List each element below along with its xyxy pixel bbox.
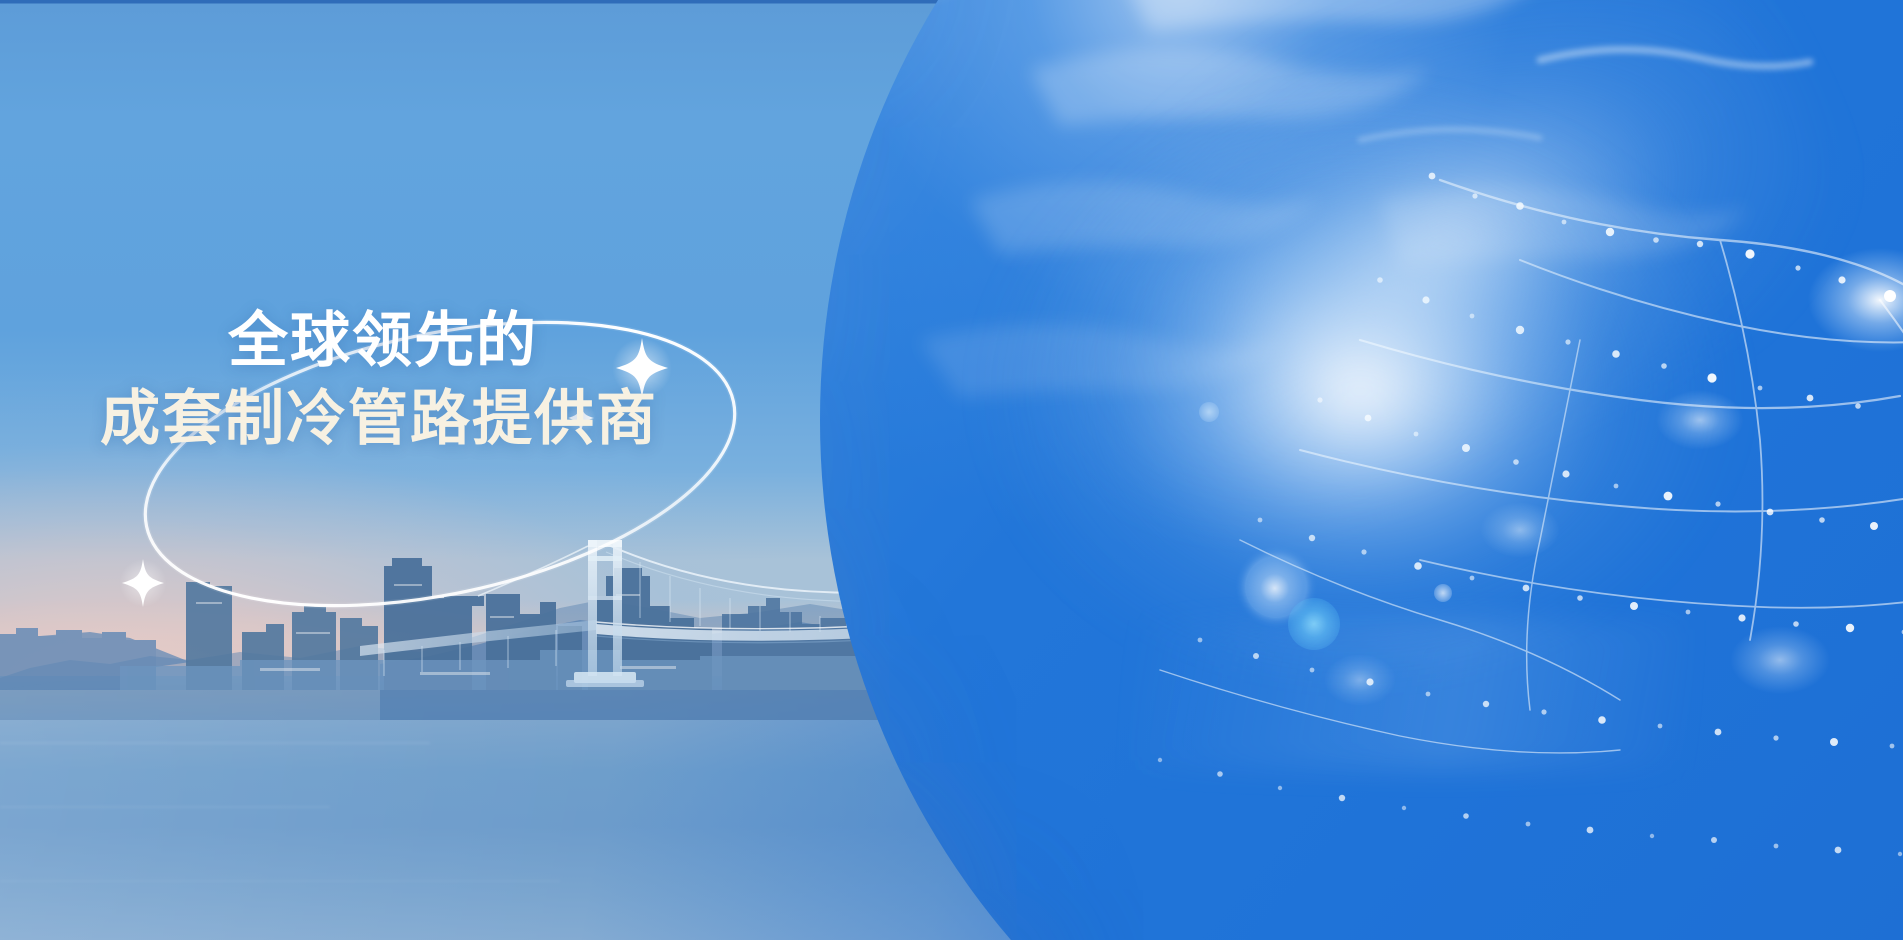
headline-line-1: 全球领先的 bbox=[100, 306, 780, 376]
water-ripple-band bbox=[0, 742, 430, 744]
water-ripple-band bbox=[0, 880, 560, 882]
hero-banner: 全球领先的 成套制冷管路提供商 bbox=[0, 0, 1903, 940]
water-ripple-band bbox=[0, 806, 330, 808]
headline-line-2: 成套制冷管路提供商 bbox=[100, 384, 780, 454]
suspension-bridge bbox=[360, 500, 1180, 730]
headline-block: 全球领先的 成套制冷管路提供商 bbox=[100, 306, 780, 454]
